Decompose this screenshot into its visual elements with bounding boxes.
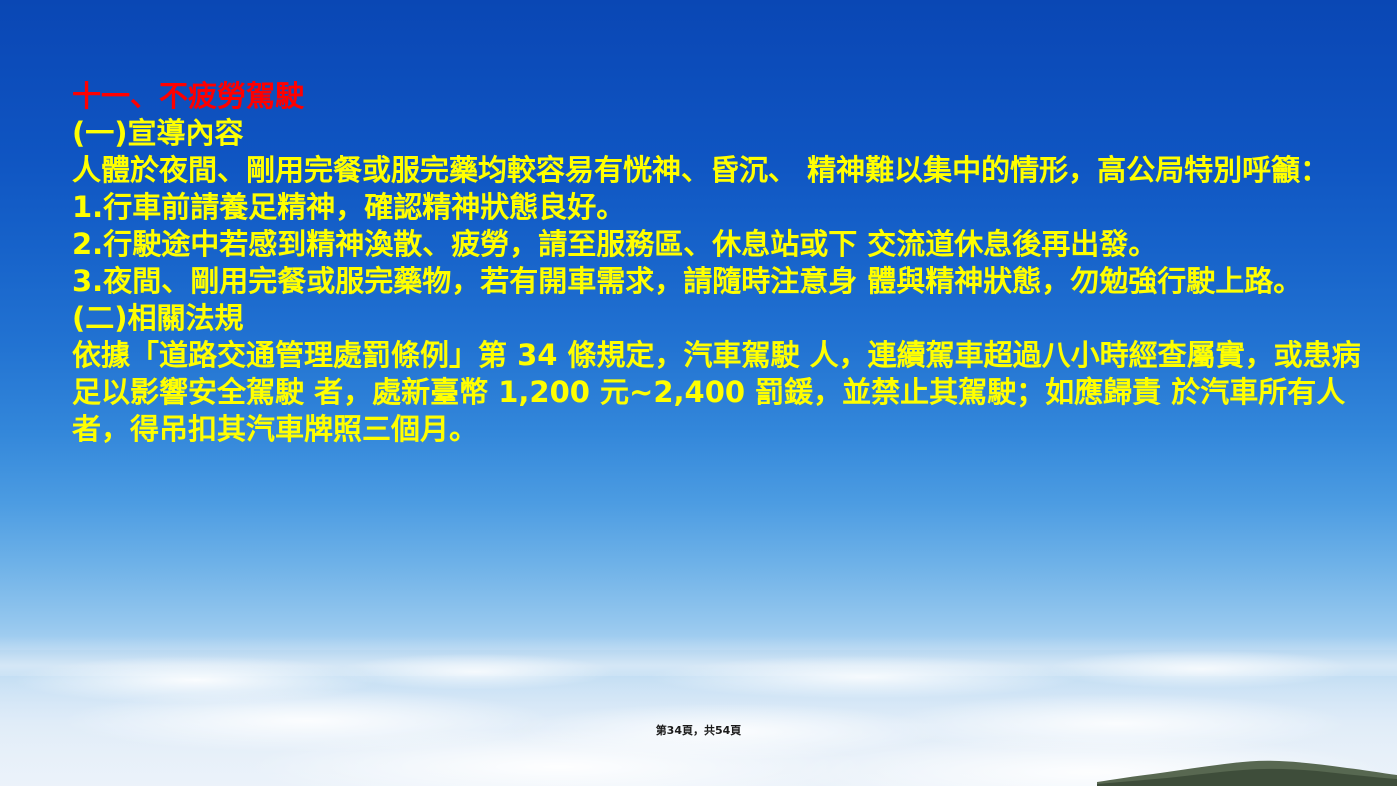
body-line-subsection-1: (一)宣導內容 [72, 115, 1372, 152]
body-line-intro: 人體於夜間、剛用完餐或服完藥均較容易有恍神、昏沉、 精神難以集中的情形，高公局特… [72, 152, 1372, 189]
body-line-item-1: 1.行車前請養足精神，確認精神狀態良好。 [72, 189, 1372, 226]
slide-text-body: 十一、不疲勞駕駛 (一)宣導內容 人體於夜間、剛用完餐或服完藥均較容易有恍神、昏… [72, 78, 1372, 448]
body-line-subsection-2: (二)相關法規 [72, 300, 1372, 337]
presentation-slide: 十一、不疲勞駕駛 (一)宣導內容 人體於夜間、剛用完餐或服完藥均較容易有恍神、昏… [0, 0, 1397, 786]
body-line-item-2: 2.行駛途中若感到精神渙散、疲勞，請至服務區、休息站或下 交流道休息後再出發。 [72, 226, 1372, 263]
page-number-footer: 第34頁，共54頁 [0, 722, 1397, 738]
forested-ridge [1097, 752, 1397, 786]
slide-title: 十一、不疲勞駕駛 [72, 78, 1372, 115]
body-line-regulation: 依據「道路交通管理處罰條例」第 34 條規定，汽車駕駛 人，連續駕車超過八小時經… [72, 337, 1372, 448]
body-line-item-3: 3.夜間、剛用完餐或服完藥物，若有開車需求，請隨時注意身 體與精神狀態，勿勉強行… [72, 263, 1372, 300]
